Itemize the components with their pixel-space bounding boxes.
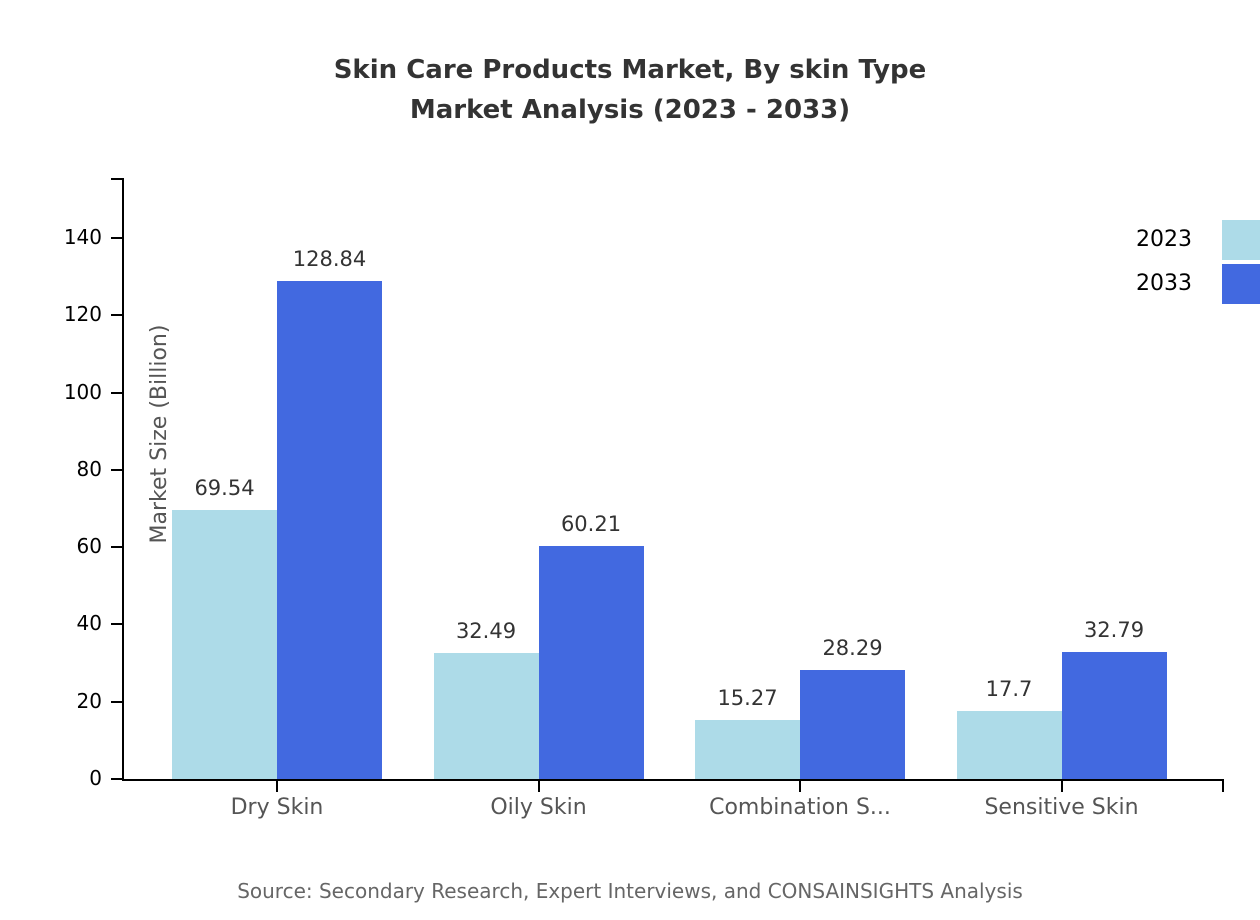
y-axis-tick — [111, 778, 122, 780]
x-axis-category-label: Combination S... — [650, 795, 950, 821]
y-axis-tick — [111, 314, 122, 316]
x-axis-category-label: Sensitive Skin — [912, 795, 1212, 821]
source-note: Source: Secondary Research, Expert Inter… — [0, 878, 1260, 904]
x-axis-tick — [538, 781, 540, 792]
y-axis-tick — [111, 546, 122, 548]
y-axis-tick-label: 0 — [12, 768, 102, 788]
y-axis-tick-label: 20 — [12, 691, 102, 711]
y-axis-tick-label: 40 — [12, 613, 102, 633]
x-axis-line — [122, 779, 1224, 781]
y-axis-title: Market Size (Billion) — [148, 254, 172, 614]
legend-item[interactable]: 2023 — [1060, 220, 1260, 260]
bar[interactable] — [539, 546, 644, 779]
y-axis-tick-label: 100 — [12, 382, 102, 402]
legend-color-swatch — [1222, 264, 1260, 304]
y-axis-top-cap — [111, 178, 124, 180]
y-axis-tick — [111, 392, 122, 394]
bar[interactable] — [800, 670, 905, 779]
plot-area: 020406080100120140 Dry SkinOily SkinComb… — [122, 178, 1224, 781]
bar-value-label: 28.29 — [773, 638, 933, 659]
y-axis-tick-label: 120 — [12, 304, 102, 324]
legend-label: 2023 — [1060, 228, 1192, 252]
bar[interactable] — [695, 720, 800, 779]
y-axis-tick — [111, 623, 122, 625]
legend-item[interactable]: 2033 — [1060, 264, 1260, 304]
x-axis-right-cap — [1222, 779, 1224, 792]
bar-chart: Skin Care Products Market, By skin Type … — [0, 0, 1260, 920]
y-axis-tick — [111, 701, 122, 703]
chart-title-line-2: Market Analysis (2023 - 2033) — [0, 90, 1260, 130]
bar-value-label: 32.79 — [1034, 620, 1194, 641]
bar[interactable] — [434, 653, 539, 779]
bar[interactable] — [172, 510, 277, 779]
y-axis-line — [122, 178, 124, 781]
y-axis-tick-label: 140 — [12, 227, 102, 247]
x-axis-category-label: Dry Skin — [127, 795, 427, 821]
bar[interactable] — [957, 711, 1062, 779]
y-axis-tick-label: 60 — [12, 536, 102, 556]
chart-title-line-1: Skin Care Products Market, By skin Type — [0, 50, 1260, 90]
legend-color-swatch — [1222, 220, 1260, 260]
x-axis-category-label: Oily Skin — [389, 795, 689, 821]
bar[interactable] — [277, 281, 382, 779]
chart-legend: 20232033 — [1060, 220, 1260, 312]
y-axis-tick-label: 80 — [12, 459, 102, 479]
chart-title: Skin Care Products Market, By skin Type … — [0, 50, 1260, 130]
y-axis-tick — [111, 469, 122, 471]
x-axis-tick — [276, 781, 278, 792]
legend-label: 2033 — [1060, 272, 1192, 296]
bar-value-label: 128.84 — [250, 249, 410, 270]
bar[interactable] — [1062, 652, 1167, 779]
y-axis-tick — [111, 237, 122, 239]
x-axis-tick — [1061, 781, 1063, 792]
x-axis-tick — [799, 781, 801, 792]
bar-value-label: 60.21 — [511, 514, 671, 535]
